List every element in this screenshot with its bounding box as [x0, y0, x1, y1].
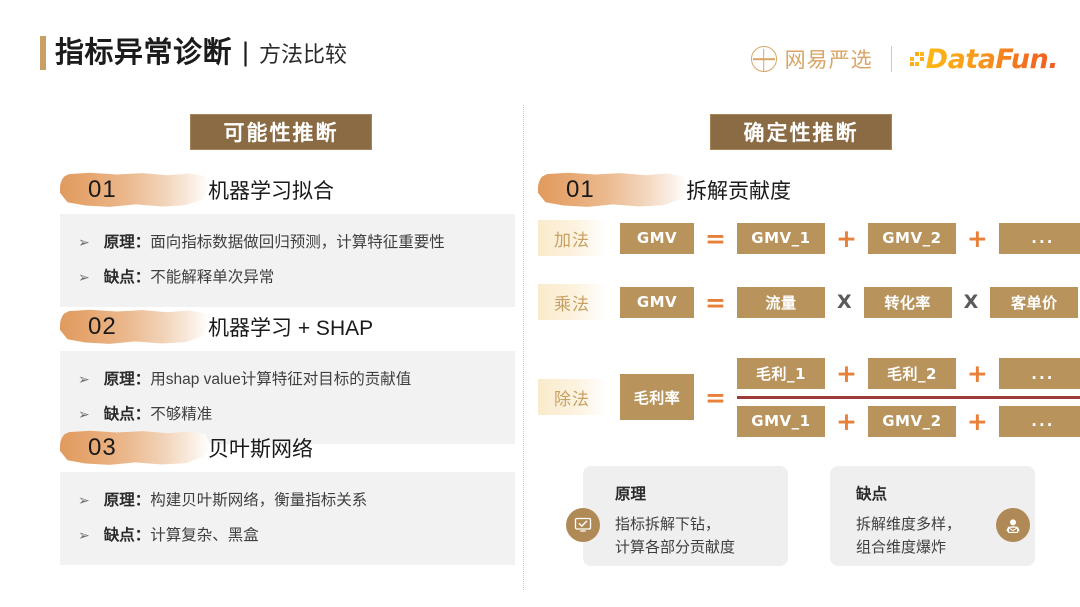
bullet-text: 计算复杂、黑盒 — [150, 524, 259, 547]
fraction-bar — [737, 396, 1080, 399]
division-lhs-tag: 毛利率 — [620, 374, 694, 420]
column-divider — [523, 105, 524, 590]
fraction-numerator: 毛利_1 + 毛利_2 + ... — [737, 358, 1080, 389]
principle-card-line-1: 指标拆解下钻， — [615, 513, 788, 536]
bullet-label: 原理 — [104, 368, 135, 391]
left-item-02-title: 机器学习 + SHAP — [208, 312, 373, 342]
multiplication-term-2: 转化率 — [864, 287, 952, 318]
bullet-text: 面向指标数据做回归预测，计算特征重要性 — [150, 231, 445, 254]
bullet-row: ➢ 原理 ： 构建贝叶斯网络，衡量指标关系 — [60, 483, 515, 518]
bullet-text: 用shap value计算特征对目标的贡献值 — [150, 368, 411, 391]
arrow-bullet-icon: ➢ — [78, 491, 90, 512]
bullet-label: 原理 — [104, 489, 135, 512]
title-main-text: 指标异常诊断 — [55, 39, 232, 68]
brush-stroke-shape — [60, 430, 210, 466]
multiplication-times-1: X — [837, 293, 852, 312]
denominator-plus-2: + — [967, 409, 988, 434]
left-item-02-badge: 02 — [60, 309, 210, 345]
addition-term-2: GMV_2 — [868, 223, 956, 254]
multiplication-lhs-tag: GMV — [620, 287, 694, 318]
bullet-row: ➢ 缺点 ： 不能解释单次异常 — [60, 260, 515, 295]
principle-card: 原理 指标拆解下钻， 计算各部分贡献度 — [583, 466, 788, 566]
numerator-term-2: 毛利_2 — [868, 358, 956, 389]
left-item-03-panel: ➢ 原理 ： 构建贝叶斯网络，衡量指标关系 ➢ 缺点 ： 计算复杂、黑盒 — [60, 472, 515, 565]
left-item-01-title: 机器学习拟合 — [208, 175, 334, 205]
bullet-colon: ： — [135, 403, 151, 426]
arrow-bullet-icon: ➢ — [78, 370, 90, 391]
envelope-icon — [996, 508, 1030, 542]
right-item-01-number: 01 — [566, 176, 595, 204]
denominator-plus-1: + — [836, 409, 857, 434]
left-section-banner: 可能性推断 — [190, 114, 372, 150]
left-item-02-head: 02 机器学习 + SHAP — [60, 307, 373, 347]
bullet-text: 不够精准 — [150, 403, 212, 426]
numerator-plus-1: + — [836, 361, 857, 386]
right-item-01-title: 拆解贡献度 — [686, 175, 791, 205]
title-separator: | — [242, 39, 249, 66]
formula-division-row: 除法 毛利率 = 毛利_1 + 毛利_2 + ... GMV_1 + GMV_2… — [538, 358, 1080, 437]
arrow-bullet-icon: ➢ — [78, 268, 90, 289]
arrow-bullet-icon: ➢ — [78, 405, 90, 426]
addition-lhs-tag: GMV — [620, 223, 694, 254]
slide-root: 指标异常诊断 | 方法比较 网易严选 DataFun. 可能性推断 — [0, 0, 1080, 607]
bullet-colon: ： — [135, 266, 151, 289]
addition-plus-2: + — [967, 226, 988, 251]
denominator-term-2: GMV_2 — [868, 406, 956, 437]
bullet-row: ➢ 缺点 ： 计算复杂、黑盒 — [60, 518, 515, 553]
formula-multiplication-row: 乘法 GMV = 流量 X 转化率 X 客单价 — [538, 284, 1078, 320]
logo-group: 网易严选 DataFun. — [751, 40, 1058, 78]
multiplication-times-2: X — [964, 293, 979, 312]
left-item-03-number: 03 — [88, 434, 117, 462]
bullet-text: 不能解释单次异常 — [150, 266, 274, 289]
bullet-row: ➢ 原理 ： 面向指标数据做回归预测，计算特征重要性 — [60, 225, 515, 260]
bullet-row: ➢ 原理 ： 用shap value计算特征对目标的贡献值 — [60, 362, 515, 397]
bullet-label: 原理 — [104, 231, 135, 254]
monitor-check-icon — [566, 508, 600, 542]
numerator-term-3: ... — [999, 358, 1080, 389]
slide-header: 指标异常诊断 | 方法比较 网易严选 DataFun. — [0, 0, 1080, 100]
principle-card-body: 指标拆解下钻， 计算各部分贡献度 — [615, 513, 788, 560]
page-title: 指标异常诊断 | 方法比较 — [40, 36, 347, 70]
right-section-banner: 确定性推断 — [710, 114, 892, 150]
datafun-logo: DataFun. — [910, 44, 1058, 75]
brush-stroke-shape — [538, 172, 688, 208]
division-fraction: 毛利_1 + 毛利_2 + ... GMV_1 + GMV_2 + ... — [737, 358, 1080, 437]
netease-logo-text: 网易严选 — [785, 44, 873, 74]
arrow-bullet-icon: ➢ — [78, 233, 90, 254]
datafun-pixel-dots-icon — [910, 52, 924, 66]
denominator-term-1: GMV_1 — [737, 406, 825, 437]
bullet-text: 构建贝叶斯网络，衡量指标关系 — [150, 489, 367, 512]
multiplication-term-1: 流量 — [737, 287, 825, 318]
numerator-plus-2: + — [967, 361, 988, 386]
drawback-card-title: 缺点 — [856, 482, 1035, 504]
denominator-term-3: ... — [999, 406, 1080, 437]
formula-addition-row: 加法 GMV = GMV_1 + GMV_2 + ... — [538, 220, 1080, 256]
bullet-colon: ： — [135, 231, 151, 254]
bullet-label: 缺点 — [104, 266, 135, 289]
bullet-colon: ： — [135, 368, 151, 391]
multiplication-equals-sign: = — [705, 290, 726, 315]
title-accent-bar — [40, 36, 46, 70]
netease-yanxuan-logo: 网易严选 — [751, 44, 873, 74]
left-item-01-number: 01 — [88, 176, 117, 204]
brush-stroke-shape — [60, 309, 210, 345]
division-op-label: 除法 — [538, 379, 606, 415]
division-equals-sign: = — [705, 385, 726, 410]
left-item-02-number: 02 — [88, 313, 117, 341]
bullet-colon: ： — [135, 524, 151, 547]
right-item-01-badge: 01 — [538, 172, 688, 208]
bullet-label: 缺点 — [104, 524, 135, 547]
principle-card-title: 原理 — [615, 482, 788, 504]
datafun-logo-text: DataFun. — [926, 44, 1058, 75]
fraction-denominator: GMV_1 + GMV_2 + ... — [737, 406, 1080, 437]
addition-equals-sign: = — [705, 226, 726, 251]
netease-circle-icon — [751, 46, 777, 72]
multiplication-op-label: 乘法 — [538, 284, 606, 320]
brush-stroke-shape — [60, 172, 210, 208]
left-item-01-badge: 01 — [60, 172, 210, 208]
left-item-01-panel: ➢ 原理 ： 面向指标数据做回归预测，计算特征重要性 ➢ 缺点 ： 不能解释单次… — [60, 214, 515, 307]
left-item-03-head: 03 贝叶斯网络 — [60, 428, 313, 468]
addition-plus-1: + — [836, 226, 857, 251]
bullet-label: 缺点 — [104, 403, 135, 426]
arrow-bullet-icon: ➢ — [78, 526, 90, 547]
right-item-01-head: 01 拆解贡献度 — [538, 170, 791, 210]
addition-term-3: ... — [999, 223, 1080, 254]
left-item-03-badge: 03 — [60, 430, 210, 466]
multiplication-term-3: 客单价 — [990, 287, 1078, 318]
numerator-term-1: 毛利_1 — [737, 358, 825, 389]
left-section-banner-label: 可能性推断 — [224, 117, 339, 147]
left-item-01-head: 01 机器学习拟合 — [60, 170, 334, 210]
addition-op-label: 加法 — [538, 220, 606, 256]
bullet-colon: ： — [135, 489, 151, 512]
title-sub-text: 方法比较 — [259, 44, 347, 66]
principle-card-line-2: 计算各部分贡献度 — [615, 536, 788, 559]
logo-divider — [891, 46, 892, 72]
addition-term-1: GMV_1 — [737, 223, 825, 254]
right-section-banner-label: 确定性推断 — [744, 117, 859, 147]
left-item-03-title: 贝叶斯网络 — [208, 433, 313, 463]
